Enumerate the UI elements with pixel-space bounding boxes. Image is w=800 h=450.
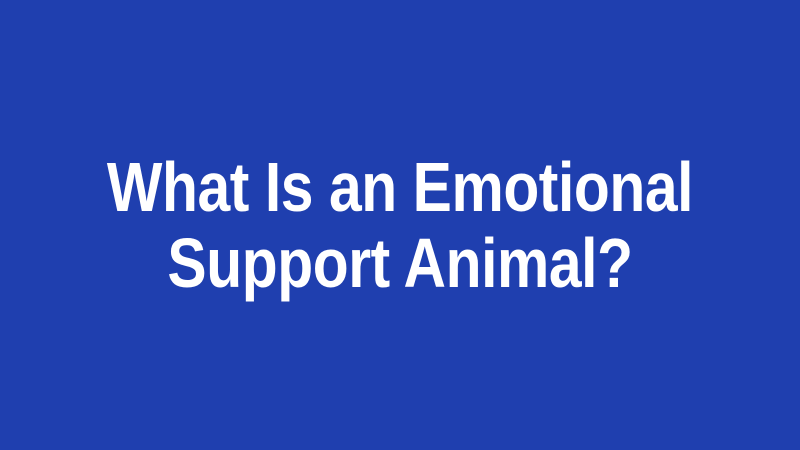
title-card: What Is an Emotional Support Animal? — [0, 0, 800, 450]
page-title: What Is an Emotional Support Animal? — [106, 149, 694, 301]
heading-block: What Is an Emotional Support Animal? — [40, 149, 760, 301]
